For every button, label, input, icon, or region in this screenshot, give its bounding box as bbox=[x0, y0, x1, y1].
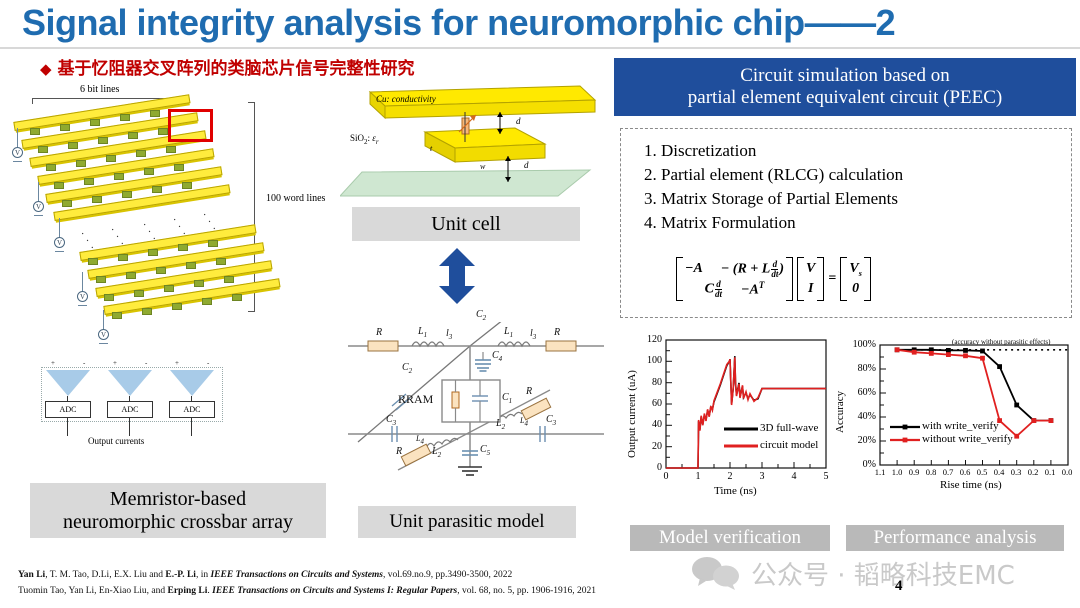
memristor-cell bbox=[178, 244, 188, 251]
dimension-d-lower: d bbox=[524, 160, 529, 170]
label-C2: C2 bbox=[476, 309, 486, 322]
memristor-cell bbox=[182, 182, 192, 189]
eq-m12-frac-den: dt bbox=[771, 270, 778, 279]
eq-v1: V bbox=[806, 261, 815, 277]
adc-block: ADC bbox=[169, 401, 215, 418]
peec-steps-box: Discretization Partial element (RLCG) ca… bbox=[620, 128, 1072, 318]
adc-block: ADC bbox=[45, 401, 91, 418]
parasitic-model-figure: R R L1 l3 L1 l3 C2 C2 C4 RRAM C1 C3 C3 R… bbox=[340, 322, 612, 482]
label-R: R bbox=[396, 446, 402, 457]
polarity-plus: + bbox=[113, 359, 117, 367]
memristor-cell bbox=[120, 114, 130, 121]
crossbar-caption: Memristor-based neuromorphic crossbar ar… bbox=[30, 483, 326, 538]
amplifier-icon bbox=[170, 370, 214, 396]
memristor-cell bbox=[152, 186, 162, 193]
memristor-cell bbox=[194, 280, 204, 287]
system-matrix: −A − (R + Lddt) Cddt −AT bbox=[676, 257, 793, 301]
label-R: R bbox=[526, 386, 532, 397]
memristor-cell bbox=[208, 240, 218, 247]
label-C3: C3 bbox=[386, 414, 396, 427]
chart1-xtick: 5 bbox=[819, 471, 833, 482]
chart1-xtick: 3 bbox=[755, 471, 769, 482]
memristor-cell bbox=[62, 200, 72, 207]
voltage-source-label: V bbox=[36, 203, 41, 211]
polarity-minus: - bbox=[145, 359, 147, 367]
word-lines-label: 100 word lines bbox=[266, 193, 325, 204]
dimension-w: w bbox=[480, 162, 485, 171]
memristor-cell bbox=[90, 119, 100, 126]
label-C1: C1 bbox=[502, 392, 512, 405]
chart2-ytick: 80% bbox=[840, 363, 876, 374]
eq-v1-row: V bbox=[806, 259, 815, 279]
memristor-cell bbox=[60, 124, 70, 131]
voltage-source-label: V bbox=[80, 293, 85, 301]
watermark: 公众号 · 韬略科技EMC bbox=[690, 551, 1070, 595]
chart2-ytick: 20% bbox=[840, 435, 876, 446]
chart1-xtick: 0 bbox=[659, 471, 673, 482]
bidirectional-arrow-icon bbox=[437, 248, 477, 304]
chart1-ytick: 60 bbox=[634, 398, 662, 409]
voltage-source: V bbox=[33, 201, 44, 212]
memristor-cell bbox=[128, 132, 138, 139]
chart1-ytick: 100 bbox=[634, 355, 662, 366]
label-L2: L2 bbox=[432, 446, 441, 459]
eq-r1: Vs bbox=[849, 261, 861, 278]
chart1-xlabel: Time (ns) bbox=[714, 485, 757, 497]
memristor-cell bbox=[114, 173, 124, 180]
memristor-cell bbox=[84, 178, 94, 185]
chart1-xtick: 1 bbox=[691, 471, 705, 482]
chart1-legend-label: circuit model bbox=[760, 439, 818, 451]
eq-m12: − (R + Lddt) bbox=[721, 260, 784, 279]
amplifier-icon bbox=[46, 370, 90, 396]
label-L4: L4 bbox=[520, 416, 528, 428]
model-verification-caption-text: Model verification bbox=[659, 527, 801, 549]
memristor-cell bbox=[148, 249, 158, 256]
dimension-d-upper: d bbox=[516, 116, 521, 126]
chart1-xtick: 4 bbox=[787, 471, 801, 482]
amplifier-icon bbox=[108, 370, 152, 396]
eq-m12-frac: ddt bbox=[771, 260, 778, 279]
eq-m21-frac: ddt bbox=[715, 280, 722, 299]
eq-m22-sym: −A bbox=[741, 282, 759, 297]
adc-label: ADC bbox=[122, 405, 139, 414]
eq-v2-row: I bbox=[806, 279, 815, 299]
output-wire bbox=[129, 418, 130, 436]
label-l3: l3 bbox=[446, 328, 452, 341]
output-currents-label: Output currents bbox=[88, 436, 144, 446]
memristor-cell bbox=[106, 155, 116, 162]
memristor-cell bbox=[134, 290, 144, 297]
dimension-t: t bbox=[430, 144, 432, 153]
adc-label: ADC bbox=[60, 405, 77, 414]
eq-m12-post: ) bbox=[779, 261, 784, 276]
ground-symbol bbox=[55, 251, 64, 252]
chart1-ytick: 0 bbox=[634, 462, 662, 473]
eq-equals: = bbox=[828, 271, 836, 287]
performance-analysis-caption-text: Performance analysis bbox=[873, 527, 1036, 549]
eq-r2-row: 0 bbox=[849, 279, 861, 299]
cu-conductivity-label: Cu: conductivity bbox=[376, 94, 436, 104]
memristor-cell bbox=[136, 150, 146, 157]
ground-symbol bbox=[13, 161, 22, 162]
eq-v2: I bbox=[808, 281, 813, 297]
watermark-text: 公众号 · 韬略科技EMC bbox=[751, 555, 1015, 592]
peec-step: Matrix Storage of Partial Elements bbox=[661, 187, 903, 211]
voltage-source-label: V bbox=[57, 239, 62, 247]
diamond-bullet-icon: ◆ bbox=[40, 60, 52, 78]
memristor-cell bbox=[144, 168, 154, 175]
crossbar-array-figure: 6 bit lines 100 word lines bbox=[8, 84, 338, 454]
output-wire bbox=[191, 418, 192, 436]
bit-lines-label: 6 bit lines bbox=[80, 84, 119, 95]
polarity-plus: + bbox=[51, 359, 55, 367]
matrix-equation: −A − (R + Lddt) Cddt −AT V I = Vs 0 bbox=[676, 257, 871, 301]
performance-analysis-caption: Performance analysis bbox=[846, 525, 1064, 551]
chart2-ylabel: Accuracy bbox=[834, 391, 846, 433]
peec-step: Matrix Formulation bbox=[661, 211, 903, 235]
voltage-source: V bbox=[12, 147, 23, 158]
output-wire bbox=[67, 418, 68, 436]
label-C3: C3 bbox=[546, 414, 556, 427]
crossbar-caption-line2: neuromorphic crossbar array bbox=[63, 511, 293, 534]
eq-m21-sym: C bbox=[705, 281, 714, 296]
chart-model-verification: 120 100 80 60 40 20 0 0 1 2 3 4 5 Time (… bbox=[614, 328, 844, 523]
title-divider bbox=[0, 47, 1080, 49]
unknown-vector: V I bbox=[797, 257, 824, 301]
memristor-cell bbox=[88, 258, 98, 265]
label-RRAM: RRAM bbox=[398, 392, 433, 407]
memristor-cell bbox=[186, 262, 196, 269]
memristor-cell bbox=[54, 182, 64, 189]
chart1-legend-label: 3D full-wave bbox=[760, 422, 818, 434]
eq-m22-sup: T bbox=[759, 280, 765, 290]
eq-r2: 0 bbox=[852, 281, 859, 297]
memristor-cell bbox=[46, 164, 56, 171]
peec-header-line1: Circuit simulation based on bbox=[740, 65, 950, 87]
wechat-icon bbox=[690, 556, 742, 590]
ground-symbol bbox=[78, 305, 87, 306]
memristor-cell bbox=[68, 142, 78, 149]
memristor-cell bbox=[92, 196, 102, 203]
eq-m11: −A bbox=[685, 261, 703, 277]
memristor-cell bbox=[38, 146, 48, 153]
eq-m12-pre: − (R + L bbox=[721, 261, 771, 276]
crossbar-caption-line1: Memristor-based bbox=[110, 488, 246, 511]
adc-group: + - + - + - ADC ADC ADC bbox=[41, 367, 223, 422]
voltage-source-label: V bbox=[15, 149, 20, 157]
unit-cell-caption-text: Unit cell bbox=[431, 213, 500, 236]
reference-line-1: Yan Li, T. M. Tao, D.Li, E.X. Liu and E.… bbox=[18, 570, 512, 580]
chart2-ytick: 100% bbox=[840, 339, 876, 350]
label-L2: L2 bbox=[496, 418, 505, 431]
label-R: R bbox=[554, 327, 560, 338]
output-wire bbox=[191, 396, 192, 402]
label-C2: C2 bbox=[402, 362, 412, 375]
parasitic-circuit-svg bbox=[340, 322, 612, 482]
parasitic-caption-text: Unit parasitic model bbox=[389, 511, 544, 533]
voltage-source: V bbox=[54, 237, 65, 248]
memristor-cell bbox=[104, 294, 114, 301]
output-wire bbox=[67, 396, 68, 402]
chart2-legend-label: without write_verify bbox=[922, 433, 1013, 445]
source-stem bbox=[82, 272, 83, 292]
source-stem bbox=[38, 182, 39, 202]
highlight-region-box bbox=[168, 109, 213, 142]
output-wire bbox=[129, 396, 130, 402]
polarity-plus: + bbox=[175, 359, 179, 367]
memristor-cell bbox=[126, 272, 136, 279]
memristor-cell bbox=[172, 303, 182, 310]
eq-m21-frac-den: dt bbox=[715, 290, 722, 299]
eq-m22: −AT bbox=[741, 280, 764, 299]
memristor-cell bbox=[174, 164, 184, 171]
chart1-ytick: 20 bbox=[634, 441, 662, 452]
chart1-ytick: 80 bbox=[634, 377, 662, 388]
chart1-ytick: 120 bbox=[634, 334, 662, 345]
eq-m21: Cddt bbox=[705, 280, 723, 299]
peec-step: Partial element (RLCG) calculation bbox=[661, 163, 903, 187]
chinese-subtitle: ◆基于忆阻器交叉阵列的类脑芯片信号完整性研究 bbox=[40, 54, 415, 79]
label-C5: C5 bbox=[480, 444, 490, 457]
reference-line-2: Tuomin Tao, Yan Li, En-Xiao Liu, and Erp… bbox=[18, 586, 596, 596]
unit-cell-figure: Cu: conductivity SiO2: εr d d t w bbox=[340, 84, 608, 204]
word-lines-bracket bbox=[248, 102, 255, 312]
memristor-cell bbox=[224, 276, 234, 283]
source-stem bbox=[103, 310, 104, 330]
chart1-ylabel: Output current (uA) bbox=[626, 370, 638, 458]
adc-block: ADC bbox=[107, 401, 153, 418]
chart2-xlabel: Rise time (ns) bbox=[940, 479, 1002, 491]
parasitic-caption: Unit parasitic model bbox=[358, 506, 576, 538]
label-l3: l3 bbox=[530, 328, 536, 341]
unit-cell-caption: Unit cell bbox=[352, 207, 580, 241]
chart1-ytick: 40 bbox=[634, 419, 662, 430]
label-L1: L1 bbox=[418, 326, 427, 339]
memristor-cell bbox=[216, 258, 226, 265]
peec-header-line2: partial element equivalent circuit (PEEC… bbox=[688, 87, 1002, 109]
chart2-legend-label: with write_verify bbox=[922, 420, 999, 432]
memristor-cell bbox=[122, 191, 132, 198]
memristor-cell bbox=[156, 267, 166, 274]
ground-symbol bbox=[34, 215, 43, 216]
eq-m12-frac-num: d bbox=[771, 260, 778, 270]
page-number: 4 bbox=[895, 578, 903, 595]
memristor-cell bbox=[96, 276, 106, 283]
chart2-annotation: (accuracy without parasitic effects) bbox=[952, 338, 1050, 346]
peec-step: Discretization bbox=[661, 139, 903, 163]
label-L4: L4 bbox=[416, 434, 424, 446]
adc-label: ADC bbox=[184, 405, 201, 414]
label-R: R bbox=[376, 327, 382, 338]
memristor-cell bbox=[202, 298, 212, 305]
peec-steps-list: Discretization Partial element (RLCG) ca… bbox=[635, 139, 903, 236]
label-C4: C4 bbox=[492, 350, 502, 363]
page-title: Signal integrity analysis for neuromorph… bbox=[22, 2, 922, 48]
memristor-cell bbox=[118, 254, 128, 261]
memristor-cell bbox=[30, 128, 40, 135]
chart-performance-analysis: (accuracy without parasitic effects) 100… bbox=[832, 335, 1080, 525]
memristor-cell bbox=[98, 137, 108, 144]
source-vector: Vs 0 bbox=[840, 257, 870, 301]
memristor-cell bbox=[112, 312, 122, 319]
memristor-cell bbox=[166, 146, 176, 153]
voltage-source: V bbox=[77, 291, 88, 302]
polarity-minus: - bbox=[207, 359, 209, 367]
memristor-cell bbox=[76, 160, 86, 167]
memristor-cell bbox=[150, 110, 160, 117]
source-stem bbox=[17, 128, 18, 148]
memristor-cell bbox=[232, 294, 242, 301]
sio2-label: SiO2: εr bbox=[350, 133, 379, 146]
voltage-source: V bbox=[98, 329, 109, 340]
model-verification-caption: Model verification bbox=[630, 525, 830, 551]
eq-m21-frac-num: d bbox=[715, 280, 722, 290]
source-stem bbox=[59, 218, 60, 238]
chart1-xtick: 2 bbox=[723, 471, 737, 482]
chart2-xtick: 0.0 bbox=[1057, 467, 1077, 477]
voltage-source-label: V bbox=[101, 331, 106, 339]
eq-r1-row: Vs bbox=[849, 259, 861, 279]
memristor-cell bbox=[164, 285, 174, 292]
label-L1: L1 bbox=[504, 326, 513, 339]
ground-symbol bbox=[99, 343, 108, 344]
polarity-minus: - bbox=[83, 359, 85, 367]
chinese-subtitle-text: 基于忆阻器交叉阵列的类脑芯片信号完整性研究 bbox=[58, 59, 415, 79]
memristor-cell bbox=[142, 308, 152, 315]
peec-header: Circuit simulation based on partial elem… bbox=[614, 58, 1076, 116]
memristor-cell bbox=[158, 128, 168, 135]
